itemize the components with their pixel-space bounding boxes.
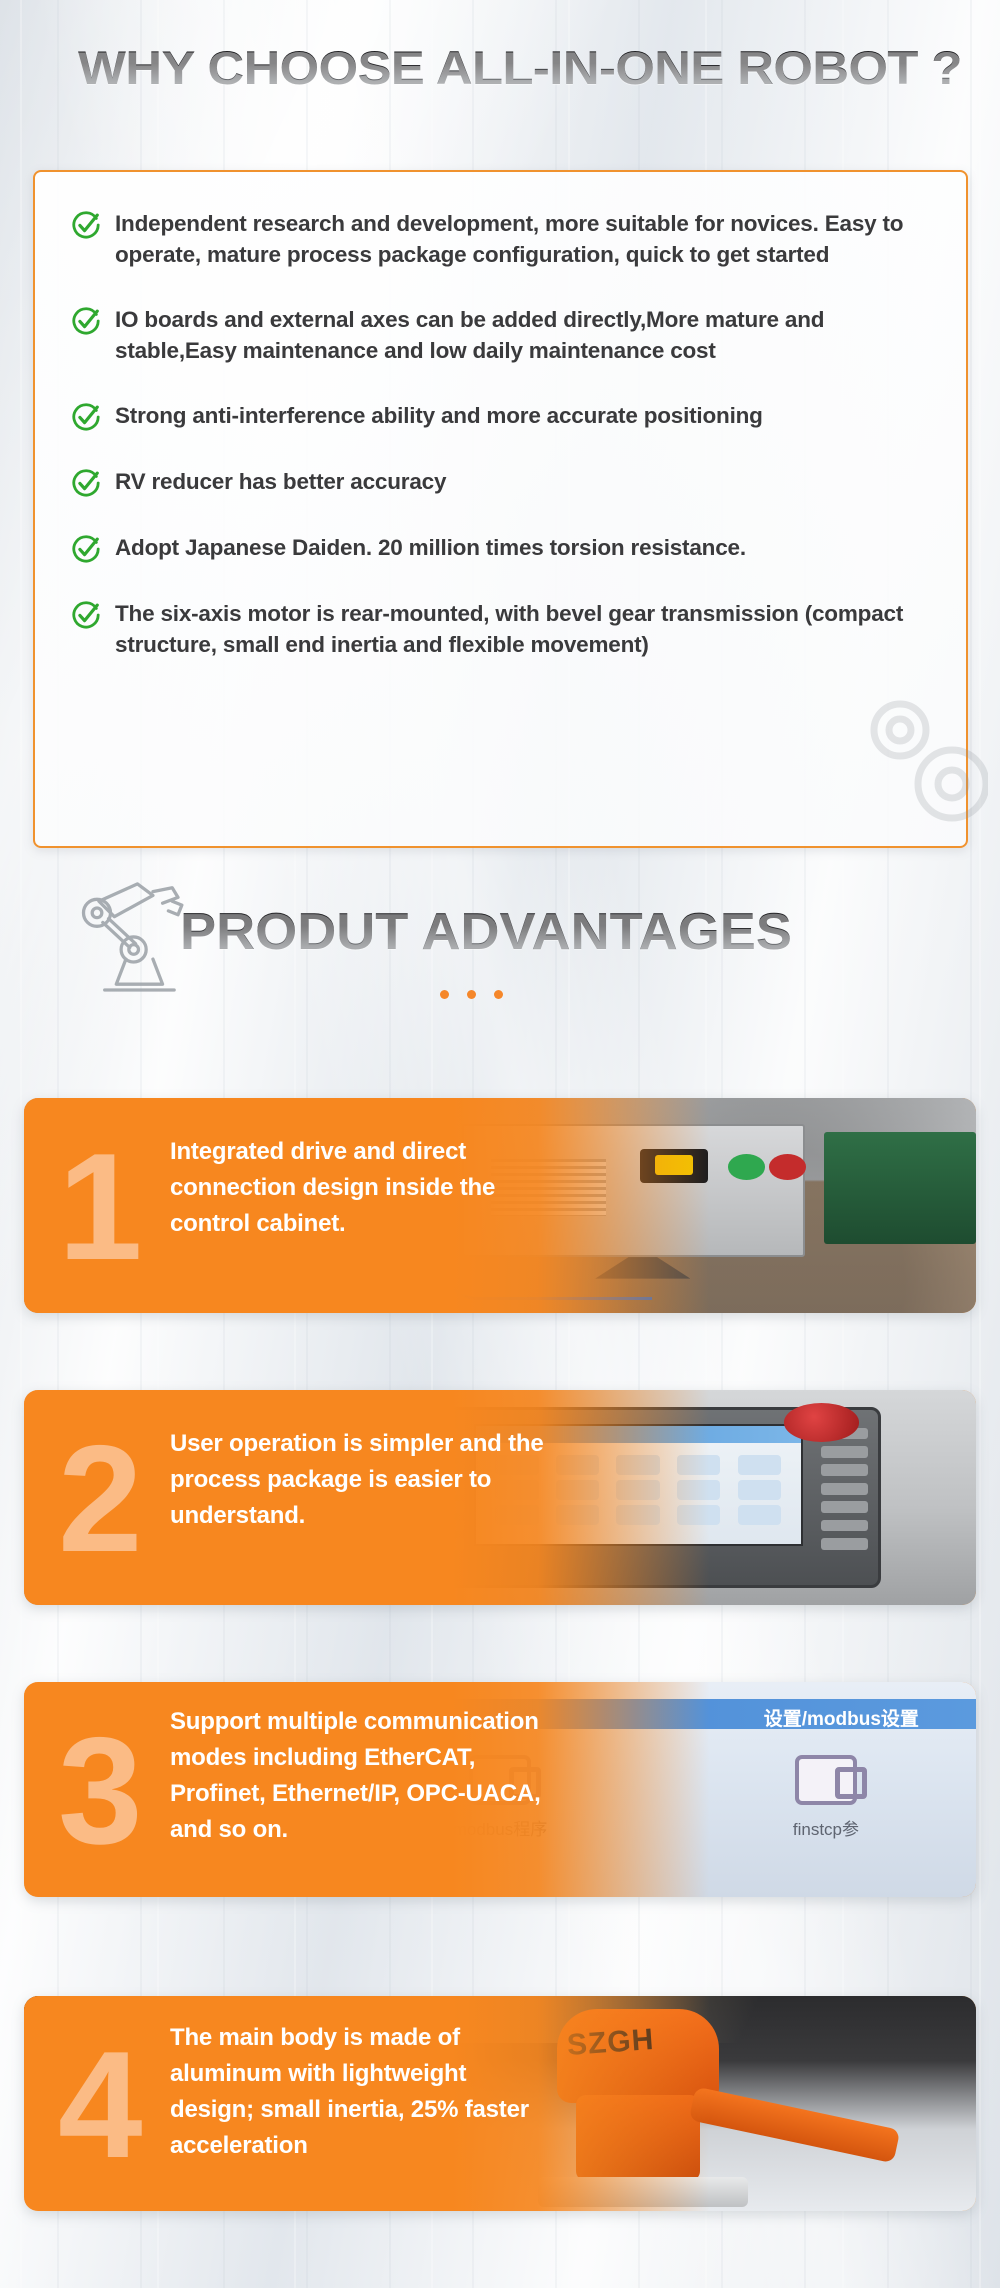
- feature-text: IO boards and external axes can be added…: [115, 304, 936, 366]
- feature-text: RV reducer has better accuracy: [115, 466, 446, 497]
- check-circle-icon: [71, 402, 101, 432]
- feature-item: Adopt Japanese Daiden. 20 million times …: [71, 532, 936, 564]
- gears-decoration-icon: [848, 680, 988, 840]
- card-text: Integrated drive and direct connection d…: [170, 1134, 550, 1242]
- check-circle-icon: [71, 210, 101, 240]
- advantage-card-3[interactable]: 设置/modbus设置 modbus参数 modbus程序 finstcp参 3…: [24, 1682, 976, 1897]
- check-circle-icon: [71, 534, 101, 564]
- card-text: The main body is made of aluminum with l…: [170, 2020, 550, 2164]
- page-title: WHY CHOOSE ALL-IN-ONE ROBOT ?: [78, 40, 962, 95]
- check-circle-icon: [71, 306, 101, 336]
- advantages-title: PRODUT ADVANTAGES: [180, 902, 792, 962]
- feature-item: RV reducer has better accuracy: [71, 466, 936, 498]
- card-text: User operation is simpler and the proces…: [170, 1426, 550, 1534]
- dots-decoration: [440, 990, 503, 999]
- check-circle-icon: [71, 600, 101, 630]
- dot-icon: [494, 990, 503, 999]
- advantage-card-1[interactable]: 1 Integrated drive and direct connection…: [24, 1098, 976, 1313]
- dot-icon: [467, 990, 476, 999]
- check-circle-icon: [71, 468, 101, 498]
- feature-text: Independent research and development, mo…: [115, 208, 936, 270]
- feature-item: Independent research and development, mo…: [71, 208, 936, 270]
- card-number: 4: [58, 2000, 143, 2210]
- feature-text: Strong anti-interference ability and mor…: [115, 400, 763, 431]
- card-number: 3: [58, 1686, 143, 1896]
- dot-icon: [440, 990, 449, 999]
- advantage-card-4[interactable]: SZGH 4 The main body is made of aluminum…: [24, 1996, 976, 2211]
- advantages-header: PRODUT ADVANTAGES: [0, 880, 1000, 1030]
- card-number: 2: [58, 1394, 143, 1604]
- feature-item: The six-axis motor is rear-mounted, with…: [71, 598, 936, 660]
- feature-text: The six-axis motor is rear-mounted, with…: [115, 598, 936, 660]
- why-choose-panel: Independent research and development, mo…: [33, 170, 968, 848]
- card-text: Support multiple communication modes inc…: [170, 1704, 550, 1848]
- advantage-card-2[interactable]: 2 User operation is simpler and the proc…: [24, 1390, 976, 1605]
- feature-item: Strong anti-interference ability and mor…: [71, 400, 936, 432]
- feature-text: Adopt Japanese Daiden. 20 million times …: [115, 532, 746, 563]
- card-number: 1: [58, 1102, 143, 1312]
- feature-item: IO boards and external axes can be added…: [71, 304, 936, 366]
